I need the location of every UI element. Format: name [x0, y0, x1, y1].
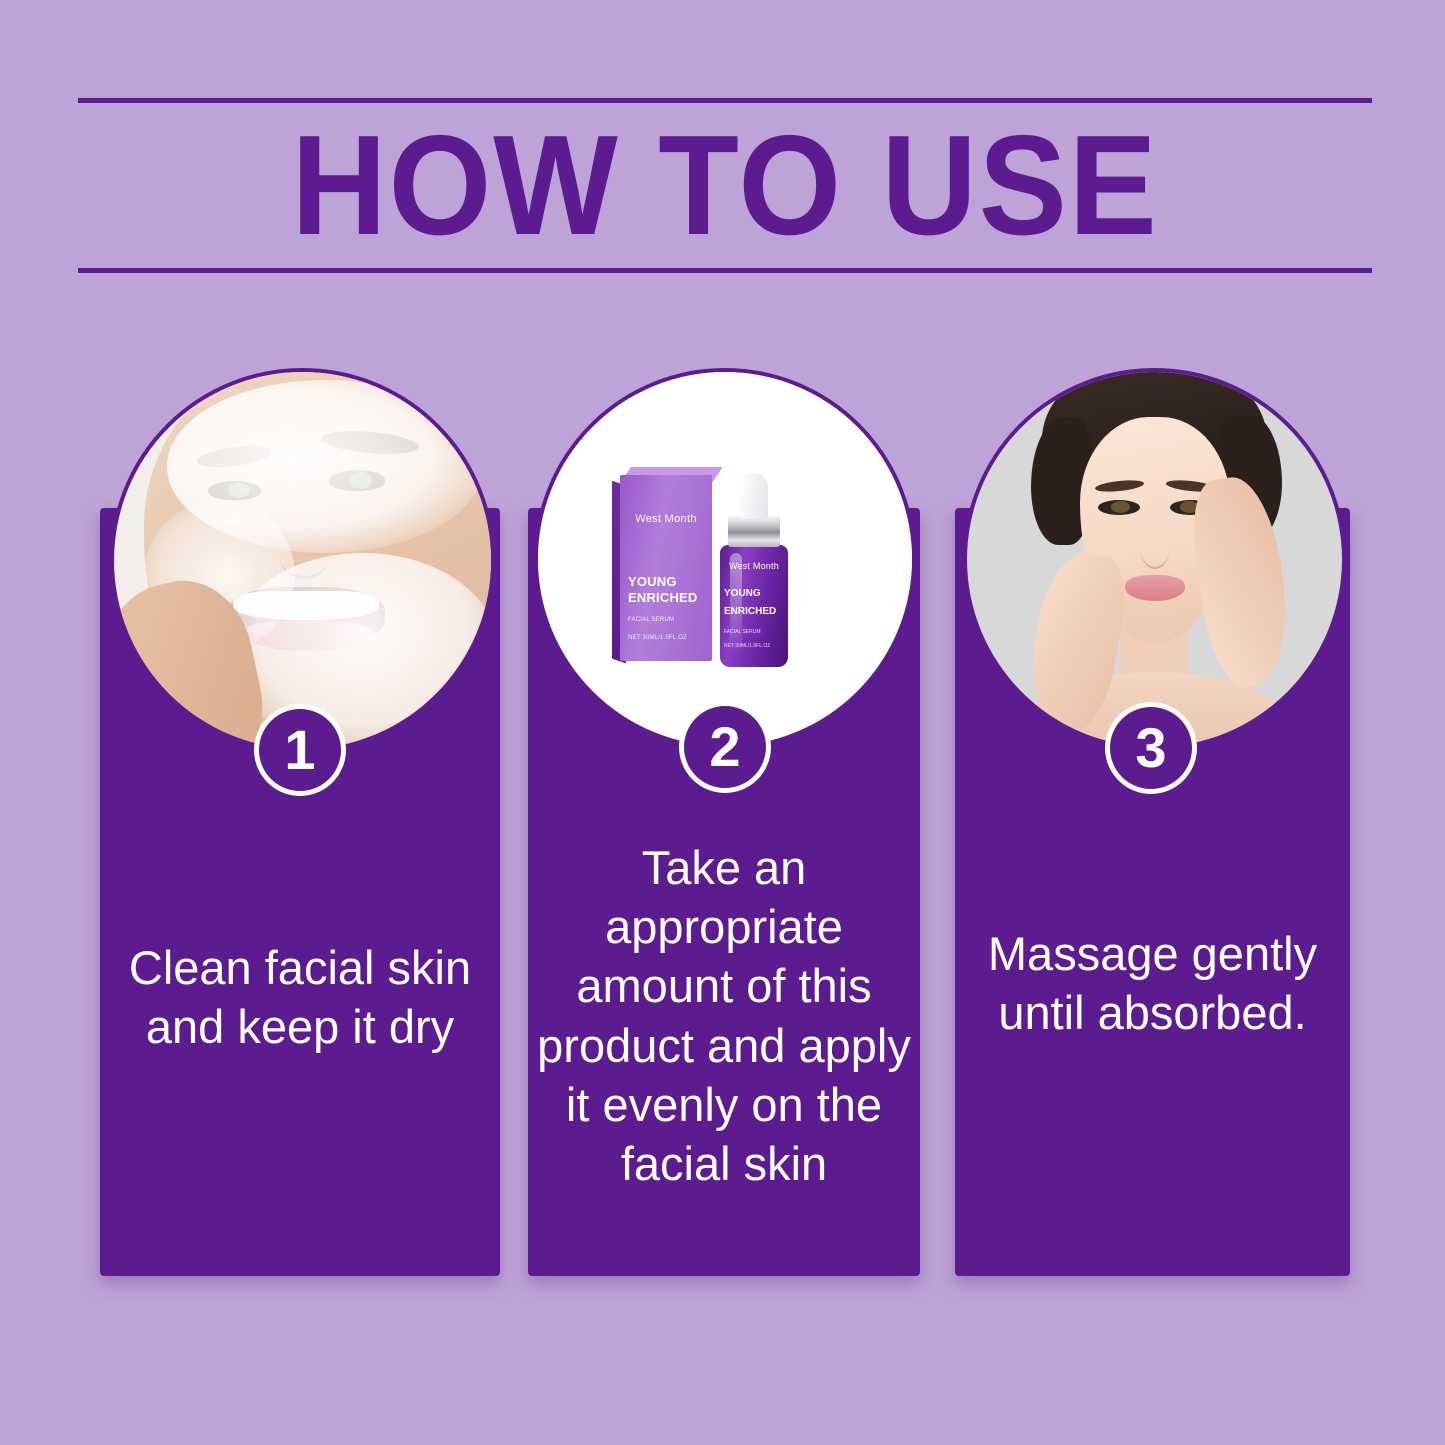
- carton-brand-text: West Month: [622, 513, 710, 525]
- carton-name-line1: YOUNG: [622, 575, 710, 589]
- step-3-number-badge: 3: [1105, 702, 1197, 794]
- bottle-volume: NET 30ML/1.0FL.OZ: [724, 643, 784, 649]
- bottle-name-line2: ENRICHED: [724, 607, 784, 618]
- bottle-descriptor: FACIAL SERUM: [724, 629, 784, 635]
- step-3-caption: Massage gently until absorbed.: [955, 924, 1350, 1042]
- step-2-caption: Take an appropriate amount of this produ…: [528, 838, 920, 1193]
- step-1-photo: [110, 368, 495, 753]
- step-2-photo: West Month YOUNG ENRICHED FACIAL SERUM N…: [534, 368, 916, 750]
- step-1-caption: Clean facial skin and keep it dry: [100, 938, 500, 1056]
- header-rule-top: [78, 98, 1372, 103]
- page-header: HOW TO USE: [78, 98, 1372, 273]
- step-1-number-badge: 1: [254, 704, 346, 796]
- step-2-number-badge: 2: [679, 701, 771, 793]
- step-card-1: 1 Clean facial skin and keep it dry: [100, 368, 500, 1276]
- carton-name-line2: ENRICHED: [622, 591, 710, 605]
- cleansing-face-image: [114, 372, 491, 749]
- bottle-name-line1: YOUNG: [724, 589, 784, 600]
- massaging-face-image: [967, 372, 1342, 747]
- product-image: West Month YOUNG ENRICHED FACIAL SERUM N…: [538, 372, 912, 746]
- carton-volume: NET 30ML/1.0FL.OZ: [622, 635, 710, 641]
- header-rule-bottom: [78, 268, 1372, 273]
- steps-container: 1 Clean facial skin and keep it dry West…: [0, 368, 1445, 1288]
- bottle-brand-text: West Month: [722, 561, 786, 571]
- carton-descriptor: FACIAL SERUM: [622, 617, 710, 623]
- page-title: HOW TO USE: [123, 106, 1326, 266]
- step-card-3: 3 Massage gently until absorbed.: [955, 368, 1350, 1276]
- step-card-2: West Month YOUNG ENRICHED FACIAL SERUM N…: [528, 368, 920, 1276]
- step-3-photo: [963, 368, 1346, 751]
